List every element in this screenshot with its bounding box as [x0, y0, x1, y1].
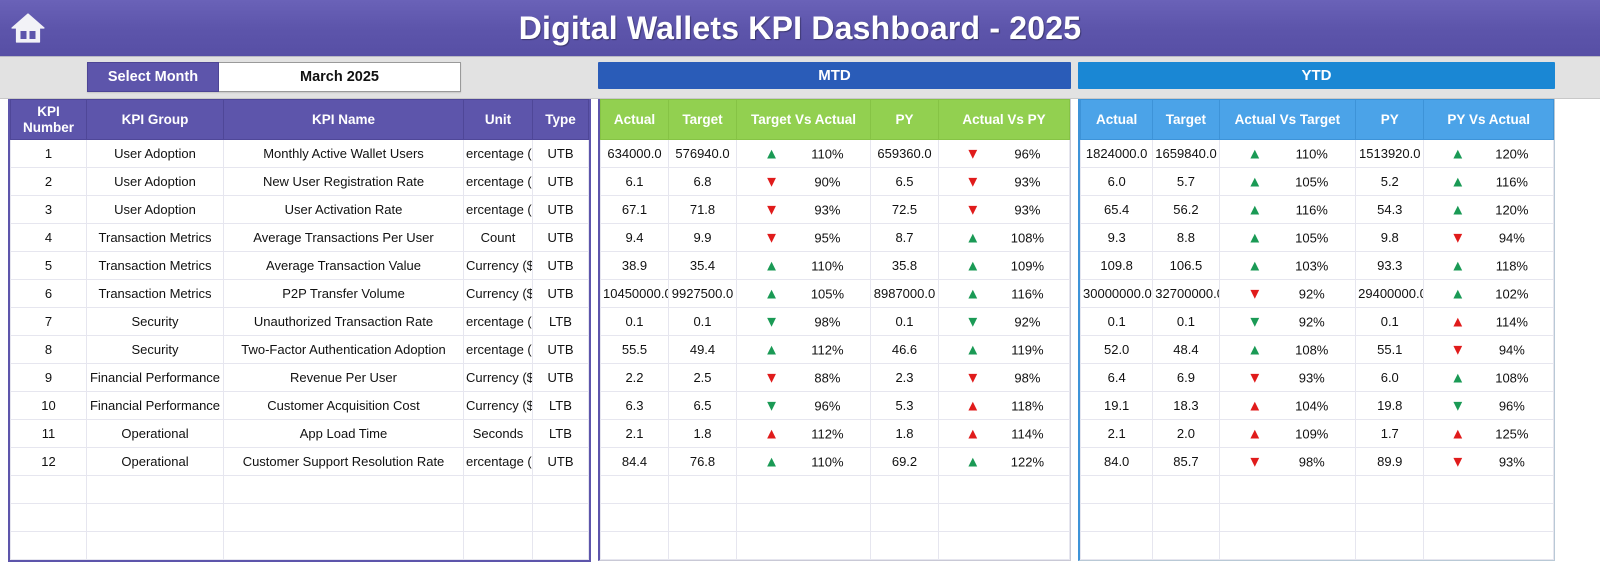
cell-kpi-number: 9	[11, 364, 87, 392]
cell-kpi-number: 4	[11, 224, 87, 252]
arrow-down-icon: ▼	[1450, 230, 1465, 245]
variance-percent: 116%	[1011, 286, 1043, 301]
col-header-unit[interactable]: Unit	[464, 100, 533, 140]
empty-cell	[1081, 476, 1153, 504]
table-row[interactable]: 6.05.7▲105%5.2▲116%	[1081, 168, 1554, 196]
variance-percent: 116%	[1496, 174, 1528, 189]
cell-type: UTB	[533, 224, 589, 252]
table-row[interactable]: 55.549.4▲112%46.6▲119%	[601, 336, 1070, 364]
cell-type: UTB	[533, 252, 589, 280]
arrow-up-icon: ▲	[1450, 370, 1465, 385]
cell-ytd-actual-vs-target: ▲109%	[1219, 420, 1356, 448]
table-row[interactable]: 6Transaction MetricsP2P Transfer VolumeC…	[11, 280, 589, 308]
empty-cell	[1424, 504, 1554, 532]
variance-percent: 90%	[814, 174, 840, 189]
cell-type: UTB	[533, 280, 589, 308]
home-button[interactable]	[0, 0, 56, 57]
cell-kpi-number: 10	[11, 392, 87, 420]
cell-mtd-actual-vs-py: ▲122%	[939, 448, 1070, 476]
cell-kpi-group: User Adoption	[87, 196, 224, 224]
variance-percent: 93%	[1499, 454, 1525, 469]
cell-mtd-target-vs-actual: ▼90%	[737, 168, 871, 196]
cell-kpi-name: Average Transaction Value	[224, 252, 464, 280]
empty-cell	[1219, 476, 1356, 504]
arrow-up-icon: ▲	[1247, 258, 1262, 273]
variance-percent: 96%	[1499, 398, 1525, 413]
cell-mtd-actual: 9.4	[601, 224, 669, 252]
variance-percent: 93%	[1014, 202, 1040, 217]
empty-cell	[669, 504, 737, 532]
arrow-up-icon: ▲	[764, 426, 779, 441]
cell-ytd-py: 29400000.0	[1356, 280, 1424, 308]
cell-mtd-target-vs-actual: ▼96%	[737, 392, 871, 420]
home-icon	[11, 12, 45, 44]
cell-mtd-target-vs-actual: ▲110%	[737, 140, 871, 168]
cell-mtd-py: 1.8	[871, 420, 939, 448]
month-value-dropdown[interactable]: March 2025	[219, 62, 461, 92]
arrow-down-icon: ▼	[1247, 370, 1262, 385]
arrow-up-icon: ▲	[965, 258, 980, 273]
empty-cell	[224, 504, 464, 532]
variance-percent: 103%	[1295, 258, 1328, 273]
variance-percent: 112%	[811, 426, 843, 441]
cell-ytd-py-vs-actual: ▲120%	[1424, 140, 1554, 168]
cell-unit: ercentage (%	[464, 448, 533, 476]
arrow-up-icon: ▲	[965, 230, 980, 245]
arrow-up-icon: ▲	[965, 342, 980, 357]
arrow-up-icon: ▲	[1247, 342, 1262, 357]
cell-ytd-py-vs-actual: ▼93%	[1424, 448, 1554, 476]
cell-mtd-py: 46.6	[871, 336, 939, 364]
mtd-metrics-table: Actual Target Target Vs Actual PY Actual…	[598, 99, 1071, 561]
empty-cell	[224, 532, 464, 560]
kpi-definition-body: 1User AdoptionMonthly Active Wallet User…	[11, 140, 589, 560]
arrow-up-icon: ▲	[1247, 174, 1262, 189]
mtd-metrics-body: 634000.0576940.0▲110%659360.0▼96%6.16.8▼…	[601, 140, 1070, 560]
cell-mtd-target-vs-actual: ▼93%	[737, 196, 871, 224]
section-banner-mtd: MTD	[598, 62, 1071, 89]
cell-mtd-py: 5.3	[871, 392, 939, 420]
empty-cell	[1153, 532, 1219, 560]
cell-ytd-actual-vs-target: ▼98%	[1219, 448, 1356, 476]
table-row[interactable]: 2.11.8▲112%1.8▲114%	[601, 420, 1070, 448]
col-header-ytd-py[interactable]: PY	[1356, 100, 1424, 140]
arrow-down-icon: ▼	[764, 398, 779, 413]
col-header-mtd-actual-vs-py[interactable]: Actual Vs PY	[939, 100, 1070, 140]
empty-cell	[1219, 532, 1356, 560]
cell-mtd-target: 2.5	[669, 364, 737, 392]
empty-cell	[939, 476, 1070, 504]
arrow-down-icon: ▼	[1450, 454, 1465, 469]
arrow-down-icon: ▼	[1247, 454, 1262, 469]
cell-mtd-actual-vs-py: ▲114%	[939, 420, 1070, 448]
cell-ytd-py-vs-actual: ▼94%	[1424, 224, 1554, 252]
table-row[interactable]: 52.048.4▲108%55.1▼94%	[1081, 336, 1554, 364]
cell-ytd-target: 5.7	[1153, 168, 1219, 196]
cell-unit: Currency ($)	[464, 280, 533, 308]
variance-percent: 93%	[1299, 370, 1325, 385]
empty-table-row	[1081, 504, 1554, 532]
arrow-down-icon: ▼	[965, 370, 980, 385]
table-row[interactable]: 65.456.2▲116%54.3▲120%	[1081, 196, 1554, 224]
arrow-up-icon: ▲	[1247, 426, 1262, 441]
col-header-ytd-py-vs-actual[interactable]: PY Vs Actual	[1424, 100, 1554, 140]
cell-ytd-py-vs-actual: ▲120%	[1424, 196, 1554, 224]
variance-percent: 108%	[1295, 342, 1328, 357]
empty-table-row	[11, 504, 589, 532]
cell-mtd-target: 6.8	[669, 168, 737, 196]
arrow-up-icon: ▲	[965, 426, 980, 441]
empty-cell	[871, 504, 939, 532]
arrow-up-icon: ▲	[965, 286, 980, 301]
cell-unit: ercentage (%	[464, 168, 533, 196]
table-row[interactable]: 10Financial PerformanceCustomer Acquisit…	[11, 392, 589, 420]
cell-ytd-py: 55.1	[1356, 336, 1424, 364]
cell-mtd-target: 49.4	[669, 336, 737, 364]
kpi-definition-table: KPI Number KPI Group KPI Name Unit Type …	[8, 99, 591, 562]
variance-percent: 93%	[1014, 174, 1040, 189]
cell-ytd-py: 89.9	[1356, 448, 1424, 476]
cell-mtd-actual: 38.9	[601, 252, 669, 280]
cell-mtd-actual-vs-py: ▼93%	[939, 168, 1070, 196]
cell-mtd-target: 9.9	[669, 224, 737, 252]
col-header-type[interactable]: Type	[533, 100, 589, 140]
cell-kpi-group: Security	[87, 336, 224, 364]
cell-ytd-actual-vs-target: ▼92%	[1219, 308, 1356, 336]
table-row[interactable]: 6.16.8▼90%6.5▼93%	[601, 168, 1070, 196]
variance-percent: 108%	[1495, 370, 1528, 385]
empty-cell	[87, 532, 224, 560]
cell-mtd-py: 8.7	[871, 224, 939, 252]
cell-unit: Currency ($)	[464, 252, 533, 280]
cell-unit: Currency ($)	[464, 392, 533, 420]
table-row[interactable]: 38.935.4▲110%35.8▲109%	[601, 252, 1070, 280]
table-row[interactable]: 9.38.8▲105%9.8▼94%	[1081, 224, 1554, 252]
cell-mtd-target-vs-actual: ▼95%	[737, 224, 871, 252]
cell-unit: Count	[464, 224, 533, 252]
empty-table-row	[601, 504, 1070, 532]
table-row[interactable]: 5Transaction MetricsAverage Transaction …	[11, 252, 589, 280]
cell-ytd-actual-vs-target: ▲105%	[1219, 168, 1356, 196]
cell-ytd-target: 0.1	[1153, 308, 1219, 336]
cell-mtd-actual: 55.5	[601, 336, 669, 364]
cell-ytd-actual: 9.3	[1081, 224, 1153, 252]
cell-ytd-actual-vs-target: ▲105%	[1219, 224, 1356, 252]
cell-kpi-number: 2	[11, 168, 87, 196]
cell-kpi-name: P2P Transfer Volume	[224, 280, 464, 308]
empty-cell	[464, 476, 533, 504]
cell-kpi-group: Financial Performance	[87, 392, 224, 420]
cell-mtd-target: 6.5	[669, 392, 737, 420]
month-selector[interactable]: Select Month March 2025	[87, 62, 461, 92]
cell-kpi-number: 1	[11, 140, 87, 168]
cell-ytd-py-vs-actual: ▼96%	[1424, 392, 1554, 420]
empty-cell	[669, 476, 737, 504]
variance-percent: 109%	[1295, 426, 1328, 441]
variance-percent: 114%	[1496, 314, 1528, 329]
variance-percent: 119%	[1011, 342, 1043, 357]
cell-ytd-py: 1513920.0	[1356, 140, 1424, 168]
cell-unit: ercentage (%	[464, 196, 533, 224]
table-row[interactable]: 3User AdoptionUser Activation Rateercent…	[11, 196, 589, 224]
variance-percent: 118%	[1011, 398, 1043, 413]
arrow-up-icon: ▲	[1450, 426, 1465, 441]
cell-type: LTB	[533, 308, 589, 336]
empty-table-row	[1081, 476, 1554, 504]
variance-percent: 102%	[1495, 286, 1528, 301]
variance-percent: 94%	[1499, 230, 1525, 245]
cell-kpi-group: Operational	[87, 448, 224, 476]
cell-ytd-target: 18.3	[1153, 392, 1219, 420]
variance-percent: 110%	[811, 454, 843, 469]
table-row[interactable]: 109.8106.5▲103%93.3▲118%	[1081, 252, 1554, 280]
cell-mtd-py: 659360.0	[871, 140, 939, 168]
arrow-up-icon: ▲	[1247, 146, 1262, 161]
cell-mtd-target: 576940.0	[669, 140, 737, 168]
arrow-down-icon: ▼	[764, 174, 779, 189]
cell-ytd-actual: 0.1	[1081, 308, 1153, 336]
empty-cell	[669, 532, 737, 560]
variance-percent: 92%	[1299, 314, 1325, 329]
table-row[interactable]: 12OperationalCustomer Support Resolution…	[11, 448, 589, 476]
table-row[interactable]: 19.118.3▲104%19.8▼96%	[1081, 392, 1554, 420]
cell-ytd-py-vs-actual: ▲116%	[1424, 168, 1554, 196]
cell-mtd-actual: 0.1	[601, 308, 669, 336]
table-row[interactable]: 9Financial PerformanceRevenue Per UserCu…	[11, 364, 589, 392]
cell-ytd-actual-vs-target: ▲104%	[1219, 392, 1356, 420]
cell-kpi-name: Average Transactions Per User	[224, 224, 464, 252]
empty-cell	[224, 476, 464, 504]
cell-ytd-py: 54.3	[1356, 196, 1424, 224]
variance-percent: 105%	[1295, 230, 1328, 245]
table-row[interactable]: 6.36.5▼96%5.3▲118%	[601, 392, 1070, 420]
cell-ytd-target: 106.5	[1153, 252, 1219, 280]
cell-ytd-actual: 84.0	[1081, 448, 1153, 476]
cell-kpi-group: Transaction Metrics	[87, 252, 224, 280]
cell-kpi-group: User Adoption	[87, 168, 224, 196]
kpi-grid-area: KPI Number KPI Group KPI Name Unit Type …	[0, 98, 1600, 584]
col-header-ytd-actual[interactable]: Actual	[1081, 100, 1153, 140]
cell-ytd-actual: 65.4	[1081, 196, 1153, 224]
arrow-up-icon: ▲	[1450, 314, 1465, 329]
table-row[interactable]: 9.49.9▼95%8.7▲108%	[601, 224, 1070, 252]
variance-percent: 110%	[811, 258, 843, 273]
col-header-kpi-group[interactable]: KPI Group	[87, 100, 224, 140]
variance-percent: 109%	[1011, 258, 1044, 273]
cell-kpi-name: Customer Acquisition Cost	[224, 392, 464, 420]
cell-ytd-target: 85.7	[1153, 448, 1219, 476]
cell-mtd-target: 1.8	[669, 420, 737, 448]
table-row[interactable]: 67.171.8▼93%72.5▼93%	[601, 196, 1070, 224]
table-row[interactable]: 4Transaction MetricsAverage Transactions…	[11, 224, 589, 252]
cell-mtd-py: 6.5	[871, 168, 939, 196]
table-header-row: KPI Number KPI Group KPI Name Unit Type	[11, 100, 589, 140]
table-row[interactable]: 6.46.9▼93%6.0▲108%	[1081, 364, 1554, 392]
arrow-up-icon: ▲	[764, 286, 779, 301]
cell-ytd-target: 1659840.0	[1153, 140, 1219, 168]
table-row[interactable]: 7SecurityUnauthorized Transaction Rateer…	[11, 308, 589, 336]
cell-ytd-actual: 1824000.0	[1081, 140, 1153, 168]
empty-cell	[939, 532, 1070, 560]
cell-mtd-target: 35.4	[669, 252, 737, 280]
table-row[interactable]: 0.10.1▼92%0.1▲114%	[1081, 308, 1554, 336]
variance-percent: 96%	[1014, 146, 1040, 161]
cell-mtd-actual: 2.1	[601, 420, 669, 448]
cell-mtd-actual: 84.4	[601, 448, 669, 476]
col-header-mtd-target[interactable]: Target	[669, 100, 737, 140]
empty-cell	[1424, 532, 1554, 560]
empty-cell	[1153, 476, 1219, 504]
arrow-up-icon: ▲	[965, 398, 980, 413]
cell-kpi-group: Operational	[87, 420, 224, 448]
cell-kpi-number: 6	[11, 280, 87, 308]
empty-cell	[1219, 504, 1356, 532]
arrow-down-icon: ▼	[965, 146, 980, 161]
ytd-metrics-table: Actual Target Actual Vs Target PY PY Vs …	[1078, 99, 1555, 561]
cell-mtd-actual: 67.1	[601, 196, 669, 224]
cell-unit: Currency ($)	[464, 364, 533, 392]
table-row[interactable]: 2.12.0▲109%1.7▲125%	[1081, 420, 1554, 448]
cell-mtd-target-vs-actual: ▲105%	[737, 280, 871, 308]
ytd-metrics-body: 1824000.01659840.0▲110%1513920.0▲120%6.0…	[1081, 140, 1554, 560]
cell-ytd-py: 6.0	[1356, 364, 1424, 392]
cell-ytd-actual: 30000000.0	[1081, 280, 1153, 308]
variance-percent: 92%	[1299, 286, 1325, 301]
cell-ytd-target: 8.8	[1153, 224, 1219, 252]
table-row[interactable]: 84.085.7▼98%89.9▼93%	[1081, 448, 1554, 476]
empty-table-row	[11, 532, 589, 560]
table-row[interactable]: 30000000.032700000.0▼92%29400000.0▲102%	[1081, 280, 1554, 308]
col-header-mtd-actual[interactable]: Actual	[601, 100, 669, 140]
table-row[interactable]: 11OperationalApp Load TimeSecondsLTB	[11, 420, 589, 448]
cell-ytd-py-vs-actual: ▲125%	[1424, 420, 1554, 448]
cell-ytd-py: 9.8	[1356, 224, 1424, 252]
cell-ytd-target: 32700000.0	[1153, 280, 1219, 308]
variance-percent: 104%	[1295, 398, 1328, 413]
cell-ytd-py-vs-actual: ▲102%	[1424, 280, 1554, 308]
empty-cell	[1356, 504, 1424, 532]
cell-mtd-target-vs-actual: ▼88%	[737, 364, 871, 392]
cell-mtd-actual-vs-py: ▲119%	[939, 336, 1070, 364]
table-row[interactable]: 2User AdoptionNew User Registration Rate…	[11, 168, 589, 196]
col-header-mtd-target-vs-actual[interactable]: Target Vs Actual	[737, 100, 871, 140]
cell-unit: ercentage (%	[464, 336, 533, 364]
table-row[interactable]: 10450000.09927500.0▲105%8987000.0▲116%	[601, 280, 1070, 308]
control-strip: Select Month March 2025 MTD YTD	[0, 57, 1600, 98]
cell-ytd-target: 6.9	[1153, 364, 1219, 392]
cell-mtd-target-vs-actual: ▲110%	[737, 252, 871, 280]
cell-ytd-py: 0.1	[1356, 308, 1424, 336]
empty-cell	[1356, 532, 1424, 560]
table-row[interactable]: 634000.0576940.0▲110%659360.0▼96%	[601, 140, 1070, 168]
col-header-ytd-target[interactable]: Target	[1153, 100, 1219, 140]
table-row[interactable]: 1User AdoptionMonthly Active Wallet User…	[11, 140, 589, 168]
cell-type: LTB	[533, 392, 589, 420]
arrow-down-icon: ▼	[764, 202, 779, 217]
variance-percent: 96%	[814, 398, 840, 413]
cell-mtd-actual-vs-py: ▲108%	[939, 224, 1070, 252]
variance-percent: 92%	[1014, 314, 1040, 329]
page-title: Digital Wallets KPI Dashboard - 2025	[0, 10, 1600, 47]
variance-percent: 93%	[814, 202, 840, 217]
arrow-up-icon: ▲	[764, 258, 779, 273]
cell-kpi-number: 7	[11, 308, 87, 336]
col-header-kpi-number[interactable]: KPI Number	[11, 100, 87, 140]
cell-mtd-actual: 6.3	[601, 392, 669, 420]
empty-cell	[737, 476, 871, 504]
arrow-down-icon: ▼	[965, 314, 980, 329]
variance-percent: 95%	[814, 230, 840, 245]
table-row[interactable]: 1824000.01659840.0▲110%1513920.0▲120%	[1081, 140, 1554, 168]
col-header-ytd-actual-vs-target[interactable]: Actual Vs Target	[1219, 100, 1356, 140]
cell-kpi-group: Security	[87, 308, 224, 336]
cell-type: UTB	[533, 336, 589, 364]
empty-cell	[1356, 476, 1424, 504]
empty-cell	[11, 504, 87, 532]
empty-cell	[1153, 504, 1219, 532]
variance-percent: 105%	[811, 286, 844, 301]
arrow-down-icon: ▼	[1450, 398, 1465, 413]
table-row[interactable]: 2.22.5▼88%2.3▼98%	[601, 364, 1070, 392]
table-row[interactable]: 84.476.8▲110%69.2▲122%	[601, 448, 1070, 476]
cell-ytd-py-vs-actual: ▲118%	[1424, 252, 1554, 280]
cell-mtd-py: 69.2	[871, 448, 939, 476]
cell-ytd-target: 48.4	[1153, 336, 1219, 364]
col-header-mtd-py[interactable]: PY	[871, 100, 939, 140]
cell-mtd-py: 35.8	[871, 252, 939, 280]
cell-mtd-target-vs-actual: ▲112%	[737, 420, 871, 448]
table-row[interactable]: 0.10.1▼98%0.1▼92%	[601, 308, 1070, 336]
cell-mtd-actual: 2.2	[601, 364, 669, 392]
cell-mtd-py: 72.5	[871, 196, 939, 224]
table-row[interactable]: 8SecurityTwo-Factor Authentication Adopt…	[11, 336, 589, 364]
cell-kpi-name: User Activation Rate	[224, 196, 464, 224]
arrow-up-icon: ▲	[1450, 146, 1465, 161]
cell-ytd-py: 1.7	[1356, 420, 1424, 448]
col-header-kpi-name[interactable]: KPI Name	[224, 100, 464, 140]
cell-ytd-actual-vs-target: ▲108%	[1219, 336, 1356, 364]
variance-percent: 116%	[1296, 202, 1328, 217]
variance-percent: 118%	[1496, 258, 1528, 273]
cell-kpi-group: Transaction Metrics	[87, 224, 224, 252]
cell-mtd-target-vs-actual: ▼98%	[737, 308, 871, 336]
cell-ytd-actual: 109.8	[1081, 252, 1153, 280]
cell-unit: ercentage (%	[464, 308, 533, 336]
cell-unit: Seconds	[464, 420, 533, 448]
variance-percent: 120%	[1495, 146, 1528, 161]
table-header-row: Actual Target Actual Vs Target PY PY Vs …	[1081, 100, 1554, 140]
arrow-up-icon: ▲	[965, 454, 980, 469]
variance-percent: 125%	[1495, 426, 1528, 441]
cell-kpi-number: 8	[11, 336, 87, 364]
empty-table-row	[601, 532, 1070, 560]
cell-ytd-py-vs-actual: ▲108%	[1424, 364, 1554, 392]
empty-cell	[871, 476, 939, 504]
cell-ytd-actual: 6.4	[1081, 364, 1153, 392]
arrow-down-icon: ▼	[764, 370, 779, 385]
cell-type: UTB	[533, 196, 589, 224]
cell-ytd-target: 2.0	[1153, 420, 1219, 448]
arrow-up-icon: ▲	[1247, 202, 1262, 217]
empty-table-row	[601, 476, 1070, 504]
empty-cell	[1081, 532, 1153, 560]
cell-mtd-actual-vs-py: ▲118%	[939, 392, 1070, 420]
empty-cell	[737, 504, 871, 532]
empty-cell	[87, 504, 224, 532]
cell-kpi-name: Monthly Active Wallet Users	[224, 140, 464, 168]
cell-kpi-number: 12	[11, 448, 87, 476]
arrow-down-icon: ▼	[764, 314, 779, 329]
